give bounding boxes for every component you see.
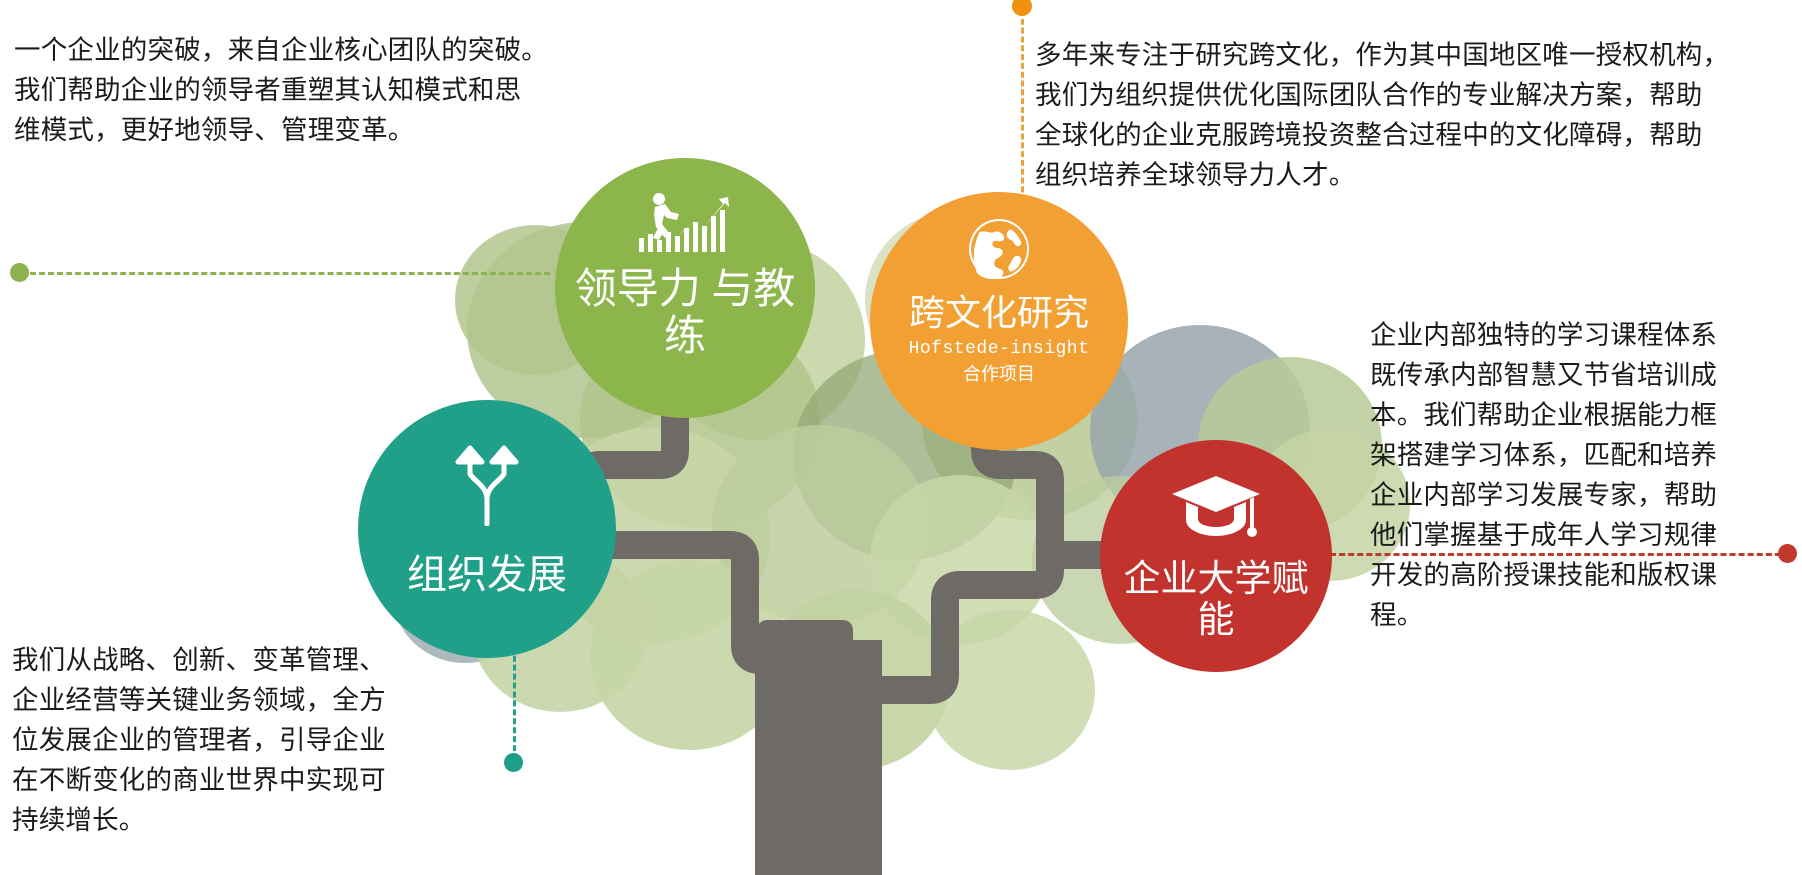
node-corporate-university-label: 企业大学赋能 [1116, 559, 1316, 642]
graduation-cap-icon [1170, 474, 1262, 545]
orange-connector-line [1021, 10, 1024, 210]
branching-arrows-icon [448, 444, 526, 531]
teal-connector-dot [504, 753, 523, 772]
node-org-development[interactable]: 组织发展 [358, 400, 616, 658]
running-person-growth-chart-icon [637, 192, 733, 259]
node-leadership-label: 领导力 与教练 [555, 267, 815, 361]
description-leadership: 一个企业的突破，来自企业核心团队的突破。 我们帮助企业的领导者重塑其认知模式和思… [14, 30, 574, 150]
node-cross-culture[interactable]: 跨文化研究 Hofstede-insight 合作项目 [870, 192, 1128, 450]
node-cross-culture-subtitle-cn: 合作项目 [963, 363, 1035, 386]
node-org-development-label: 组织发展 [407, 553, 567, 598]
node-corporate-university[interactable]: 企业大学赋能 [1100, 440, 1332, 672]
description-corporate-university: 企业内部独特的学习课程体系 既传承内部智慧又节省培训成 本。我们帮助企业根据能力… [1370, 315, 1800, 635]
node-leadership[interactable]: 领导力 与教练 [555, 158, 815, 418]
description-org-development: 我们从战略、创新、变革管理、 企业经营等关键业务领域，全方 位发展企业的管理者，… [12, 640, 462, 840]
node-cross-culture-subtitle-en: Hofstede-insight [909, 338, 1090, 361]
green-connector-dot [10, 263, 29, 282]
infographic-canvas: 领导力 与教练 跨文化研究 Hofstede-insight 合作项目 [0, 0, 1802, 875]
description-cross-culture: 多年来专注于研究跨文化，作为其中国地区唯一授权机构， 我们为组织提供优化国际团队… [1035, 35, 1795, 195]
globe-icon [968, 218, 1030, 285]
orange-connector-dot [1012, 0, 1032, 16]
node-cross-culture-label: 跨文化研究 [909, 293, 1089, 333]
green-connector-line [30, 272, 550, 275]
